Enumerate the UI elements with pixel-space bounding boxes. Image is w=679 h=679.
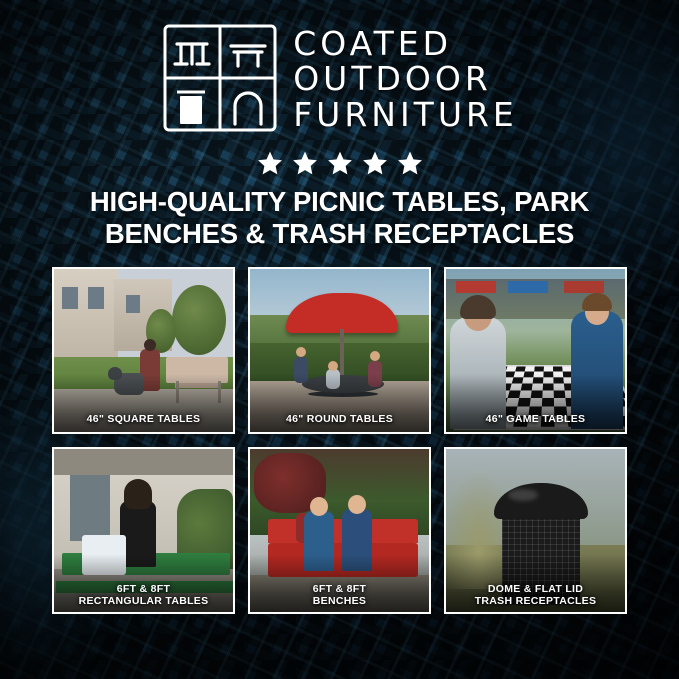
- product-gallery: 46" SQUARE TABLES: [52, 267, 627, 614]
- star-icon: [397, 150, 423, 176]
- gallery-item-square-tables[interactable]: 46" SQUARE TABLES: [52, 267, 235, 434]
- gallery-caption: 6FT & 8FT RECTANGULAR TABLES: [54, 584, 233, 608]
- star-icon: [292, 150, 318, 176]
- star-icon: [327, 150, 353, 176]
- poster-content: COATED OUTDOOR FURNITURE: [0, 0, 679, 679]
- brand-logo: COATED OUTDOOR FURNITURE: [161, 22, 518, 134]
- gallery-item-trash-receptacles[interactable]: DOME & FLAT LID TRASH RECEPTACLES: [444, 447, 627, 614]
- gallery-item-benches[interactable]: 6FT & 8FT BENCHES: [248, 447, 431, 614]
- gallery-caption-line-2: RECTANGULAR TABLES: [58, 596, 229, 608]
- gallery-caption-line-2: TRASH RECEPTACLES: [450, 596, 621, 608]
- brand-wordmark: COATED OUTDOOR FURNITURE: [293, 25, 518, 132]
- gallery-item-game-tables[interactable]: 46" GAME TABLES: [444, 267, 627, 434]
- page-title: HIGH-QUALITY PICNIC TABLES, PARK BENCHES…: [90, 186, 589, 251]
- headline-line-1: HIGH-QUALITY PICNIC TABLES, PARK: [90, 186, 589, 218]
- star-rating: [257, 150, 423, 176]
- brand-word-3: FURNITURE: [293, 98, 518, 132]
- gallery-caption: 46" ROUND TABLES: [250, 414, 429, 426]
- star-icon: [362, 150, 388, 176]
- gallery-caption: 46" GAME TABLES: [446, 414, 625, 426]
- brand-word-2: OUTDOOR: [293, 62, 518, 96]
- star-icon: [257, 150, 283, 176]
- gallery-item-round-tables[interactable]: 46" ROUND TABLES: [248, 267, 431, 434]
- gallery-item-rectangular-tables[interactable]: 6FT & 8FT RECTANGULAR TABLES: [52, 447, 235, 614]
- headline-line-2: BENCHES & TRASH RECEPTACLES: [90, 218, 589, 250]
- gallery-caption: DOME & FLAT LID TRASH RECEPTACLES: [446, 584, 625, 608]
- gallery-caption: 46" SQUARE TABLES: [54, 414, 233, 426]
- picnic-table-logo-icon: [161, 22, 279, 134]
- promo-poster: COATED OUTDOOR FURNITURE: [0, 0, 679, 679]
- gallery-caption-line-2: BENCHES: [254, 596, 425, 608]
- gallery-caption: 6FT & 8FT BENCHES: [250, 584, 429, 608]
- brand-word-1: COATED: [293, 27, 518, 61]
